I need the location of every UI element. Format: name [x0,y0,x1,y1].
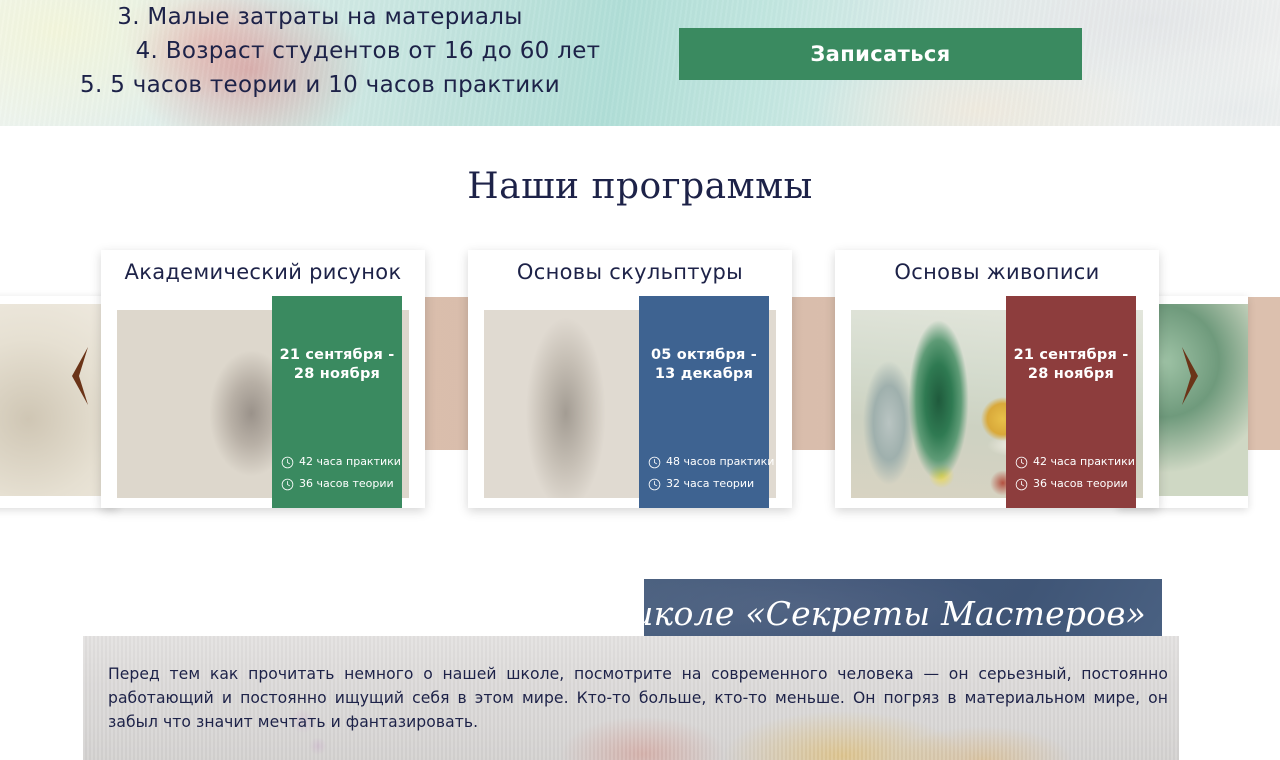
program-card[interactable]: Основы скульптуры 05 октября - 13 декабр… [468,250,792,508]
about-section-panel: Перед тем как прочитать немного о нашей … [83,636,1179,760]
chevron-right-icon [1177,345,1203,407]
program-practice-hours-label: 42 часа практики [1033,451,1135,473]
program-practice-hours-label: 48 часов практики [666,451,774,473]
program-card-title: Основы живописи [835,260,1159,284]
hero-benefit-item: 4. Возраст студентов от 16 до 60 лет [0,34,640,68]
program-dates: 05 октября - 13 декабря [639,346,769,384]
program-theory-hours-label: 32 часа теории [666,473,754,495]
program-dates: 21 сентября - 28 ноября [272,346,402,384]
program-theory-hours-row: 36 часов теории [281,473,403,495]
carousel-next-button[interactable] [1170,345,1210,407]
hero-banner: 3. Малые затраты на материалы 4. Возраст… [0,0,1280,126]
program-practice-hours-row: 42 часа практики [281,451,403,473]
clock-icon [1015,478,1028,491]
chevron-left-icon [67,345,93,407]
program-card[interactable]: Основы живописи 21 сентября - 28 ноября … [835,250,1159,508]
program-practice-hours-row: 42 часа практики [1015,451,1137,473]
program-theory-hours-label: 36 часов теории [299,473,394,495]
program-info-panel: 21 сентября - 28 ноября 42 часа практики… [272,296,402,508]
programs-section-title: Наши программы [0,166,1280,207]
program-theory-hours-label: 36 часов теории [1033,473,1128,495]
hero-benefit-item: 3. Малые затраты на материалы [0,0,640,34]
clock-icon [281,478,294,491]
about-paragraph: Перед тем как прочитать немного о нашей … [108,662,1168,734]
hero-benefits-list: 3. Малые затраты на материалы 4. Возраст… [0,0,640,126]
program-dates: 21 сентября - 28 ноября [1006,346,1136,384]
program-info-panel: 05 октября - 13 декабря 48 часов практик… [639,296,769,508]
hero-benefit-item: 5. 5 часов теории и 10 часов практики [0,68,640,102]
program-hours: 48 часов практики 32 часа теории [648,451,770,495]
clock-icon [281,456,294,469]
program-practice-hours-label: 42 часа практики [299,451,401,473]
carousel-prev-button[interactable] [60,345,100,407]
program-theory-hours-row: 36 часов теории [1015,473,1137,495]
signup-button[interactable]: Записаться [679,28,1082,80]
program-hours: 42 часа практики 36 часов теории [1015,451,1137,495]
clock-icon [648,478,661,491]
program-theory-hours-row: 32 часа теории [648,473,770,495]
program-practice-hours-row: 48 часов практики [648,451,770,473]
page-root: 3. Малые затраты на материалы 4. Возраст… [0,0,1280,760]
program-card-title: Основы скульптуры [468,260,792,284]
program-card-title: Академический рисунок [101,260,425,284]
program-info-panel: 21 сентября - 28 ноября 42 часа практики… [1006,296,1136,508]
about-section-heading: О школе «Секреты Мастеров» [584,594,1146,633]
clock-icon [648,456,661,469]
program-hours: 42 часа практики 36 часов теории [281,451,403,495]
clock-icon [1015,456,1028,469]
program-card[interactable]: Академический рисунок 21 сентября - 28 н… [101,250,425,508]
